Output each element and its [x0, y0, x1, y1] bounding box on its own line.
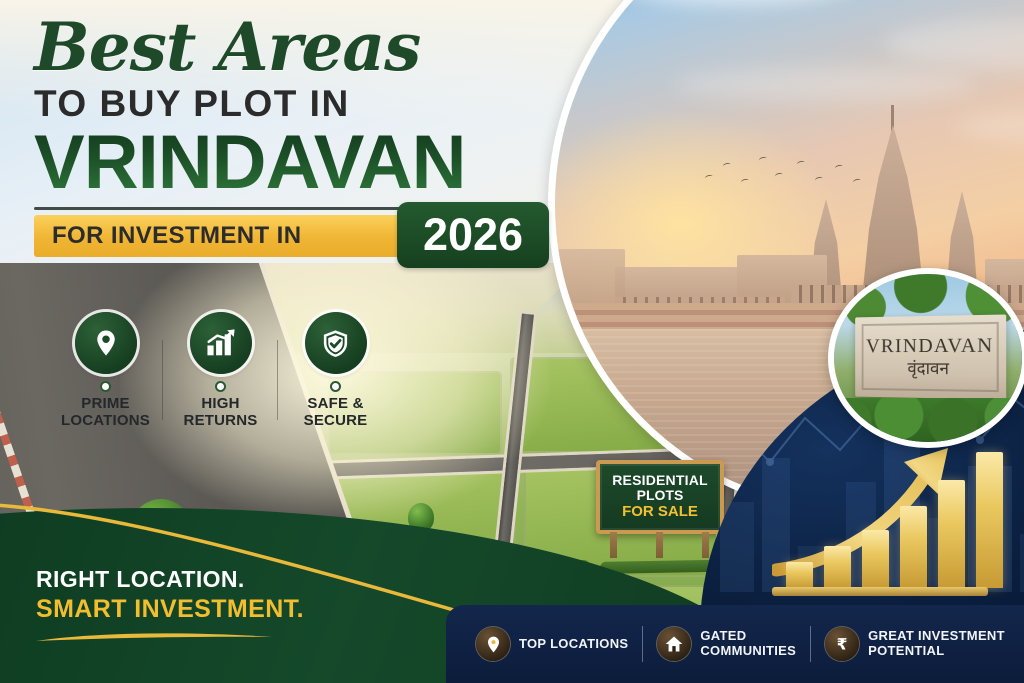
sign-line-1: RESIDENTIAL — [612, 473, 708, 488]
gold-bar-chart — [786, 452, 1003, 588]
bottom-item-label: GATEDCOMMUNITIES — [700, 629, 796, 658]
hedge-bushes — [828, 398, 1024, 448]
stone-sign-inner-border: VRINDAVAN वृंदावन — [862, 322, 999, 392]
sign-post — [656, 532, 663, 558]
marketing-banner: Best Areas TO BUY PLOT IN VRINDAVAN FOR … — [0, 0, 1024, 683]
location-pin-icon — [484, 635, 503, 654]
sign-post — [702, 532, 709, 558]
badge-circle — [305, 312, 367, 374]
town-sign-english: VRINDAVAN — [866, 335, 994, 356]
badge-connector-dot — [215, 381, 226, 392]
town-sign-devanagari: वृंदावन — [907, 361, 948, 378]
year-badge-text: 2026 — [423, 209, 523, 261]
bottom-item-label: TOP LOCATIONS — [519, 637, 628, 652]
badge-circle — [476, 627, 510, 661]
feature-badge-prime-locations: PRIMELOCATIONS — [48, 312, 163, 430]
headline-script: Best Areas — [34, 16, 554, 79]
headline-city: VRINDAVAN — [34, 124, 554, 202]
bottom-item-top-locations[interactable]: TOP LOCATIONS — [462, 627, 642, 661]
headline-block: Best Areas TO BUY PLOT IN VRINDAVAN FOR … — [34, 16, 554, 257]
bottom-feature-bar: TOP LOCATIONS GATEDCOMMUNITIES ₹ — [446, 605, 1024, 683]
residential-plots-sign: RESIDENTIAL PLOTS FOR SALE — [596, 460, 724, 534]
svg-text:₹: ₹ — [837, 636, 848, 654]
bar-chart-growth-icon — [205, 328, 237, 358]
chart-bar — [862, 530, 889, 588]
badge-label: PRIMELOCATIONS — [48, 396, 163, 430]
home-icon — [664, 634, 684, 654]
bottom-item-gated-communities[interactable]: GATEDCOMMUNITIES — [643, 627, 810, 661]
chart-bar — [900, 506, 927, 588]
investment-banner: FOR INVESTMENT IN 2026 — [34, 215, 507, 257]
year-badge: 2026 — [397, 202, 549, 268]
chart-baseline — [772, 587, 988, 596]
sign-line-2: PLOTS — [637, 488, 684, 503]
badge-connector-dot — [330, 381, 341, 392]
location-pin-icon — [91, 328, 121, 358]
badge-circle — [657, 627, 691, 661]
sign-post — [610, 532, 617, 558]
badge-label: SAFE &SECURE — [278, 396, 393, 430]
badge-circle: ₹ — [825, 627, 859, 661]
vrindavan-town-sign-photo: VRINDAVAN वृंदावन — [828, 268, 1024, 448]
shield-check-icon — [320, 328, 351, 359]
chart-bar — [938, 480, 965, 588]
tagline-underline-swoosh — [34, 630, 274, 644]
chart-bar — [976, 452, 1003, 588]
feature-badges: PRIMELOCATIONS HIGHRETURNS — [48, 312, 393, 430]
bottom-item-label: GREAT INVESTMENTPOTENTIAL — [868, 629, 1005, 658]
chart-bar — [786, 562, 813, 588]
tagline-line-2: SMART INVESTMENT. — [36, 594, 456, 625]
chart-bar — [824, 546, 851, 588]
investment-banner-text: FOR INVESTMENT IN — [34, 222, 301, 250]
feature-badge-safe-secure: SAFE &SECURE — [278, 312, 393, 430]
birds-flock — [701, 149, 871, 195]
badge-circle — [75, 312, 137, 374]
tagline-block: RIGHT LOCATION. SMART INVESTMENT. — [36, 565, 456, 625]
feature-badge-high-returns: HIGHRETURNS — [163, 312, 278, 430]
headline-subline: TO BUY PLOT IN — [34, 85, 554, 122]
sign-line-3: FOR SALE — [622, 504, 698, 521]
bottom-item-great-investment-potential[interactable]: ₹ GREAT INVESTMENTPOTENTIAL — [811, 627, 1019, 661]
badge-label: HIGHRETURNS — [163, 396, 278, 430]
badge-connector-dot — [100, 381, 111, 392]
tagline-line-1: RIGHT LOCATION. — [36, 565, 456, 594]
stone-signboard: VRINDAVAN वृंदावन — [855, 314, 1006, 399]
badge-circle — [190, 312, 252, 374]
sign-board: RESIDENTIAL PLOTS FOR SALE — [596, 460, 724, 534]
rupee-icon: ₹ — [831, 633, 853, 655]
